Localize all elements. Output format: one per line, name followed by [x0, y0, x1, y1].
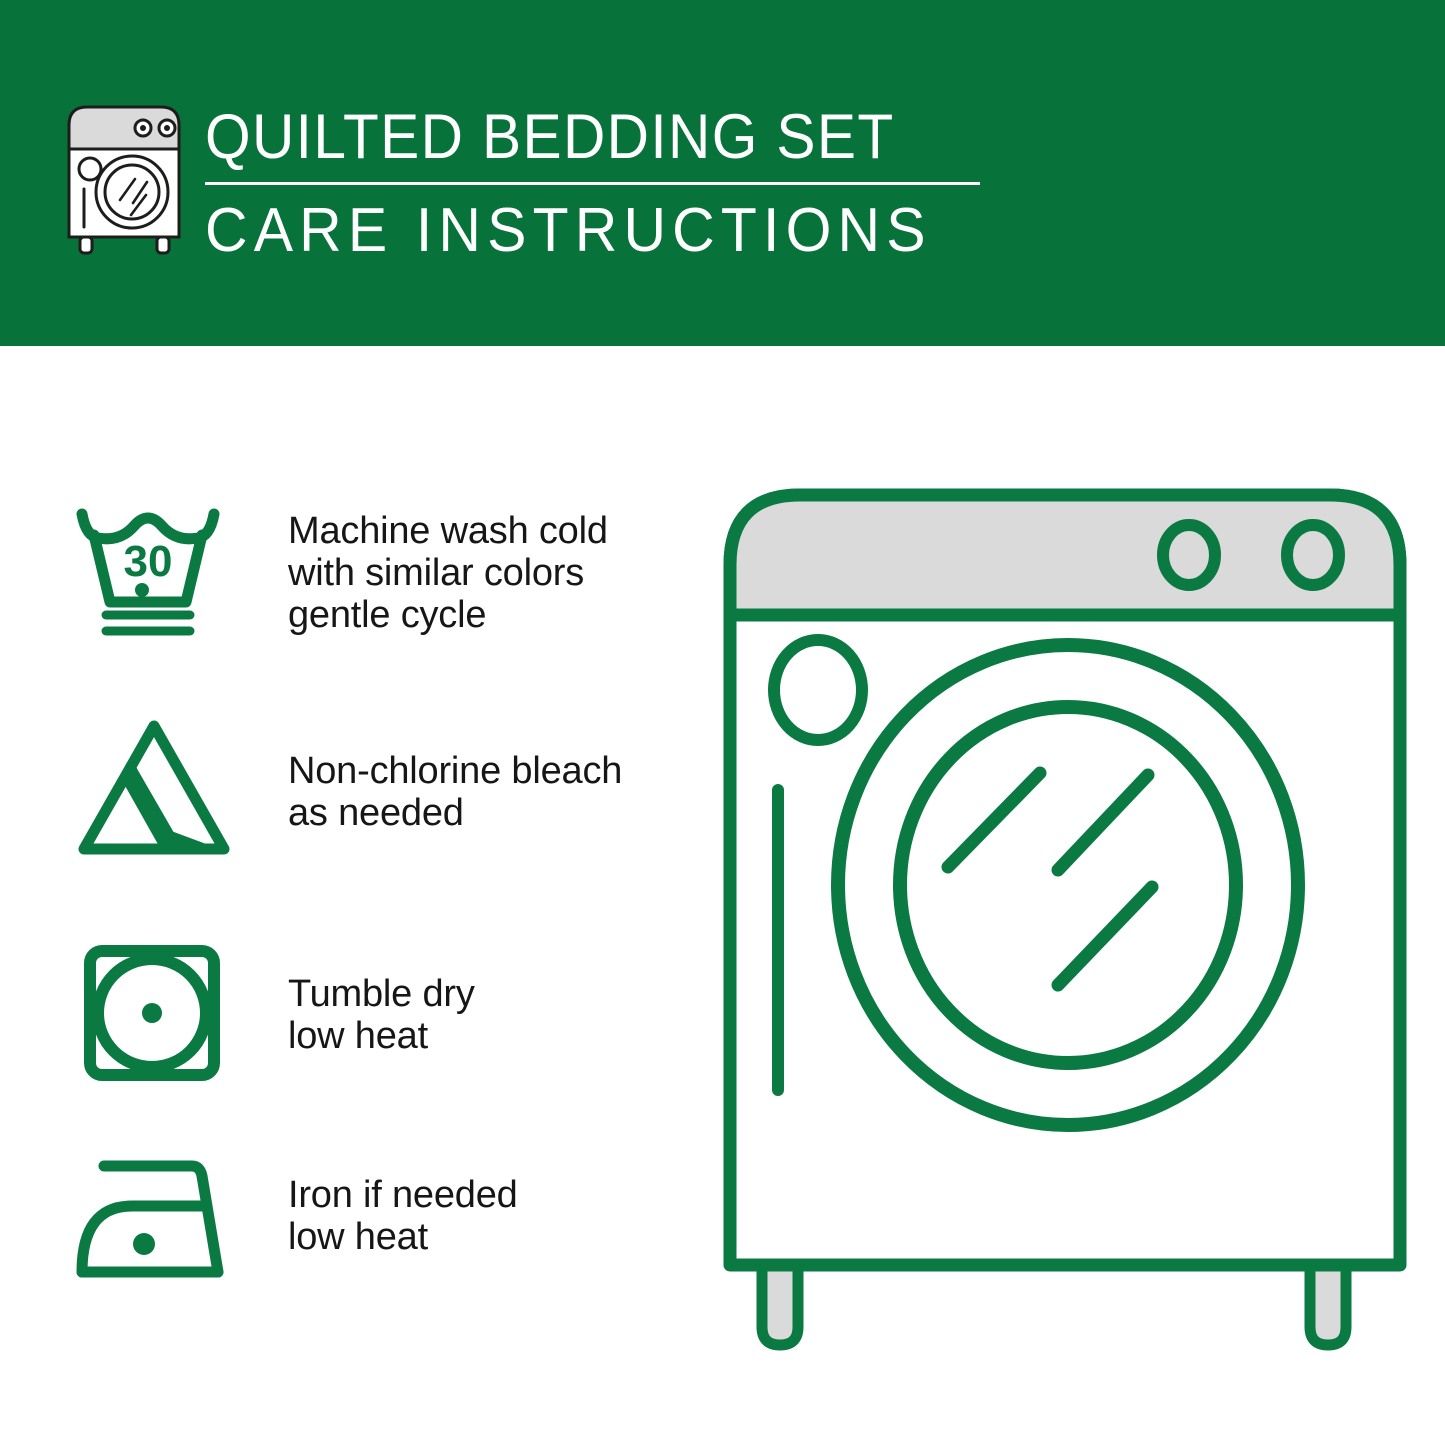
header-text-block: QUILTED BEDDING SET CARE INSTRUCTIONS: [205, 100, 995, 267]
care-item-label: Non-chlorine bleach as needed: [288, 750, 622, 834]
care-item-iron: Iron if needed low heat: [0, 1146, 700, 1346]
care-item-label: Tumble dry low heat: [288, 973, 475, 1057]
page-title: QUILTED BEDDING SET: [205, 100, 940, 174]
care-item-bleach: Non-chlorine bleach as needed: [0, 716, 700, 916]
iron-low-heat-icon: [70, 1154, 235, 1284]
header-divider: [205, 182, 980, 185]
care-instructions-list: 30 Machine wash cold with similar colors…: [0, 346, 700, 1445]
non-chlorine-bleach-triangle-icon: [72, 716, 237, 861]
tumble-dry-low-icon: [82, 943, 222, 1083]
front-load-washing-machine-illustration: [700, 455, 1430, 1365]
care-item-machine-wash: 30 Machine wash cold with similar colors…: [0, 494, 700, 694]
care-instructions-page: QUILTED BEDDING SET CARE INSTRUCTIONS: [0, 0, 1445, 1445]
page-subtitle: CARE INSTRUCTIONS: [205, 195, 956, 267]
washing-machine-icon: [63, 103, 188, 255]
wash-tub-30-gentle-icon: 30: [72, 502, 232, 642]
wash-temperature-value: 30: [124, 537, 173, 586]
care-item-label: Iron if needed low heat: [288, 1174, 518, 1258]
care-item-label: Machine wash cold with similar colors ge…: [288, 510, 608, 636]
header-banner: QUILTED BEDDING SET CARE INSTRUCTIONS: [0, 0, 1445, 346]
care-item-tumble-dry: Tumble dry low heat: [0, 941, 700, 1141]
